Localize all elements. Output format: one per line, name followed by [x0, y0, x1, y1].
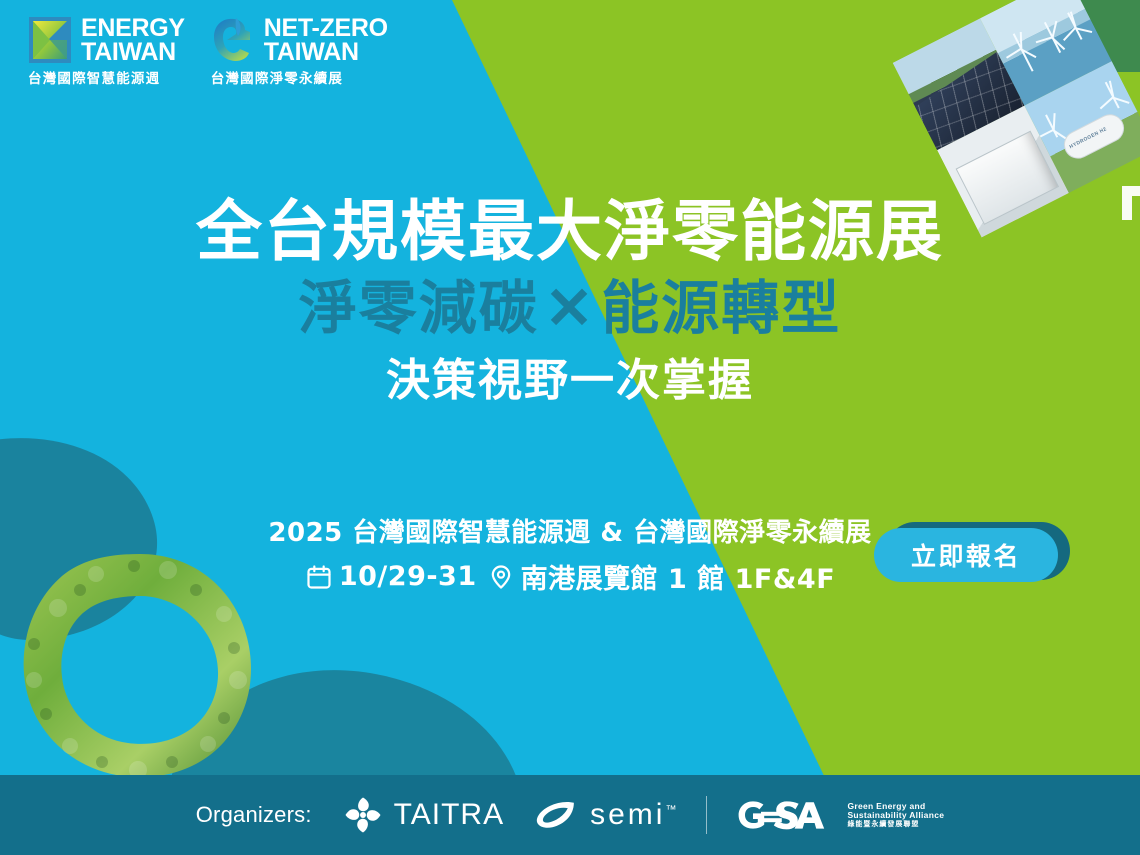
- headline-sub-left: 淨零減碳: [299, 274, 539, 342]
- footer-divider: [706, 796, 707, 834]
- headline-subline: 淨零減碳✕能源轉型: [0, 277, 1140, 341]
- register-button-label: 立即報名: [911, 537, 1021, 573]
- logo-energy-line2: TAIWAN: [81, 40, 185, 64]
- organizer-gesa[interactable]: Green Energy and Sustainability Alliance…: [737, 798, 944, 832]
- event-location: 南港展覽館 1 館 1F&4F: [521, 557, 836, 596]
- register-cta[interactable]: 立即報名: [874, 514, 1070, 582]
- four-petal-flower-icon: [342, 794, 384, 836]
- promo-banner: HYDROGEN H2: [0, 0, 1140, 855]
- event-date: 10/29-31: [339, 561, 477, 592]
- logo-energy-taiwan[interactable]: ENERGY TAIWAN 台灣國際智慧能源週: [28, 16, 185, 87]
- organizer-taitra[interactable]: TAITRA: [342, 794, 504, 836]
- semi-name: semi: [590, 798, 665, 831]
- organizer-semi[interactable]: semi™: [534, 798, 676, 832]
- logo-net-zero-taiwan[interactable]: NET-ZERO TAIWAN 台灣國際淨零永續展: [211, 16, 388, 87]
- semi-swoosh-icon: [534, 798, 580, 832]
- calendar-icon: [305, 563, 333, 591]
- leaf-e-mark-icon: [211, 16, 255, 64]
- logo-netzero-line1: NET-ZERO: [264, 16, 388, 40]
- gesa-wordmark-icon: [737, 798, 833, 832]
- event-location-group: 南港展覽館 1 館 1F&4F: [487, 557, 836, 596]
- taitra-wordmark: TAITRA: [394, 798, 504, 832]
- gesa-tagline: Green Energy and Sustainability Alliance…: [847, 802, 944, 828]
- headline-group: 全台規模最大淨零能源展 淨零減碳✕能源轉型 決策視野一次掌握: [0, 196, 1140, 405]
- semi-wordmark: semi™: [590, 798, 676, 832]
- semi-trademark: ™: [665, 804, 676, 816]
- organizers-footer: Organizers: TAITRA semi™: [0, 775, 1140, 855]
- headline-third: 決策視野一次掌握: [0, 357, 1140, 405]
- hydrogen-tank-label: HYDROGEN H2: [1069, 126, 1108, 150]
- angular-e-mark-icon: [28, 16, 72, 64]
- logo-netzero-chinese: 台灣國際淨零永續展: [211, 67, 343, 87]
- headline-sub-x: ✕: [539, 276, 602, 341]
- headline-sub-right: 能源轉型: [601, 274, 841, 342]
- gesa-tagline-chinese: 綠能暨永續發展聯盟: [847, 821, 944, 829]
- logo-energy-line1: ENERGY: [81, 16, 185, 40]
- logo-energy-chinese: 台灣國際智慧能源週: [28, 67, 160, 87]
- logo-row: ENERGY TAIWAN 台灣國際智慧能源週 NET-ZERO TAIWAN …: [28, 16, 388, 87]
- event-date-group: 10/29-31: [305, 561, 477, 592]
- organizers-label: Organizers:: [196, 802, 312, 828]
- logo-netzero-line2: TAIWAN: [264, 40, 388, 64]
- register-button[interactable]: 立即報名: [874, 528, 1058, 582]
- headline-main: 全台規模最大淨零能源展: [0, 196, 1140, 267]
- map-pin-icon: [487, 563, 515, 591]
